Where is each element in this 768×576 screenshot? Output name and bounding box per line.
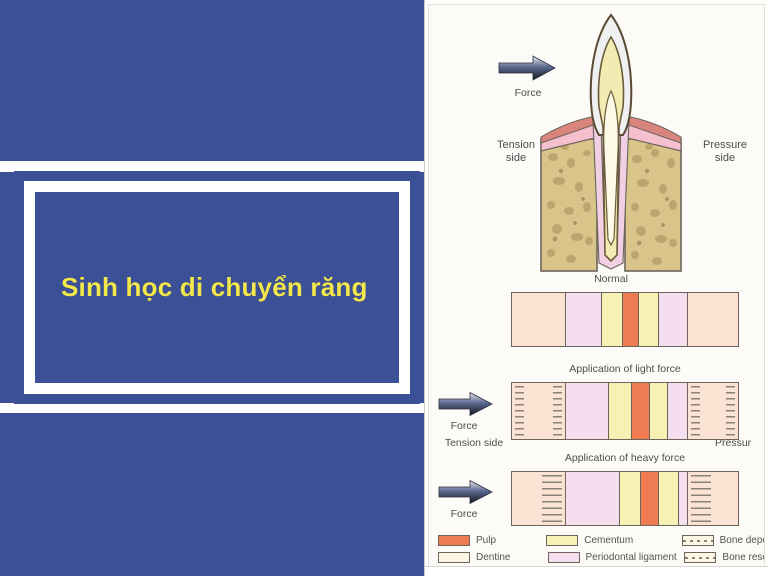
page-title: Sinh học di chuyển răng — [61, 273, 368, 303]
force-arrow-middle-icon — [437, 390, 495, 418]
legend-label-pulp: Pulp — [476, 535, 496, 546]
legend-label-bone-deposition: Bone depo — [720, 535, 765, 546]
frame-band-bottom — [0, 403, 424, 413]
bar-normal-pulp — [623, 293, 639, 346]
title-panel: Sinh học di chuyển răng — [0, 0, 424, 576]
pressure-side-line1: Pressure — [687, 139, 763, 152]
legend-label-periodontal-ligament: Periodontal ligament — [586, 552, 677, 563]
title-frame-inner: Sinh học di chuyển răng — [35, 192, 399, 383]
light-force-caption: Application of light force — [521, 363, 729, 375]
bar-normal — [511, 292, 739, 347]
bone-resorption-marks-left — [542, 475, 562, 522]
force-label-bottom: Force — [435, 508, 493, 520]
legend-item-bone-resorption: Bone reso — [684, 552, 765, 563]
bar-light-cementum-right — [650, 383, 668, 439]
legend-item-cementum: Cementum — [546, 535, 681, 546]
tooth-cross-section-illustration — [537, 11, 685, 273]
bar-heavy-bone-right — [688, 472, 738, 525]
bar-light-pdl-right — [668, 383, 688, 439]
legend-label-cementum: Cementum — [584, 535, 633, 546]
legend-row-1: Pulp Cementum Bone depo — [438, 532, 765, 549]
bar-normal-pdl-left — [566, 293, 602, 346]
legend-item-dentine: Dentine — [438, 552, 548, 563]
legend-swatch-pulp — [438, 535, 470, 546]
slide: Sinh học di chuyển răng Force Te — [0, 0, 768, 576]
diagram-panel: Force Tension side Pressure side — [424, 0, 768, 576]
legend-item-pulp: Pulp — [438, 535, 546, 546]
title-frame: Sinh học di chuyển răng — [14, 171, 420, 404]
bone-marks-left-outer — [515, 386, 524, 436]
bar-light-force — [511, 382, 739, 440]
legend-row-2: Dentine Periodontal ligament Bone reso — [438, 549, 765, 566]
bar-heavy-cementum-right — [659, 472, 679, 525]
tension-side-label-middle: Tension side — [431, 437, 517, 449]
legend-swatch-bone-deposition — [682, 535, 714, 546]
bar-light-pulp — [632, 383, 650, 439]
bar-light-bone-right — [688, 383, 738, 439]
bar-normal-bone-left — [512, 293, 566, 346]
heavy-force-caption: Application of heavy force — [521, 452, 729, 464]
bone-marks-left-inner — [553, 386, 562, 436]
legend-swatch-cementum — [546, 535, 578, 546]
legend: Pulp Cementum Bone depo Dentine — [438, 532, 765, 566]
force-arrow-bottom-icon — [437, 478, 495, 506]
bar-heavy-pdl-left — [566, 472, 620, 525]
bar-normal-cementum-left — [602, 293, 622, 346]
bar-normal-bone-right — [688, 293, 738, 346]
bone-deposition-marks-right — [691, 475, 711, 522]
pressure-side-label-top: Pressure side — [687, 139, 763, 164]
legend-label-bone-resorption: Bone reso — [722, 552, 765, 563]
legend-swatch-bone-resorption — [684, 552, 716, 563]
bar-heavy-cementum-left — [620, 472, 640, 525]
legend-label-dentine: Dentine — [476, 552, 510, 563]
bar-light-bone-left — [512, 383, 566, 439]
bar-heavy-bone-left — [512, 472, 566, 525]
bar-normal-cementum-right — [639, 293, 659, 346]
bone-marks-right-outer — [726, 386, 735, 436]
bone-marks-right-inner — [691, 386, 700, 436]
legend-swatch-dentine — [438, 552, 470, 563]
pressure-side-line2: side — [687, 152, 763, 165]
panel-bottom-strip — [425, 566, 768, 576]
force-label-middle: Force — [435, 420, 493, 432]
diagram-image: Force Tension side Pressure side — [428, 4, 765, 567]
bar-heavy-force — [511, 471, 739, 526]
legend-item-periodontal-ligament: Periodontal ligament — [548, 552, 685, 563]
normal-caption: Normal — [561, 273, 661, 285]
bar-light-pdl-left — [566, 383, 609, 439]
legend-item-bone-deposition: Bone depo — [682, 535, 765, 546]
bar-heavy-pdl-right — [679, 472, 688, 525]
title-frame-white-border: Sinh học di chuyển răng — [24, 181, 410, 394]
bar-heavy-pulp — [641, 472, 659, 525]
bar-light-cementum-left — [609, 383, 632, 439]
legend-swatch-periodontal-ligament — [548, 552, 580, 563]
bar-normal-pdl-right — [659, 293, 688, 346]
